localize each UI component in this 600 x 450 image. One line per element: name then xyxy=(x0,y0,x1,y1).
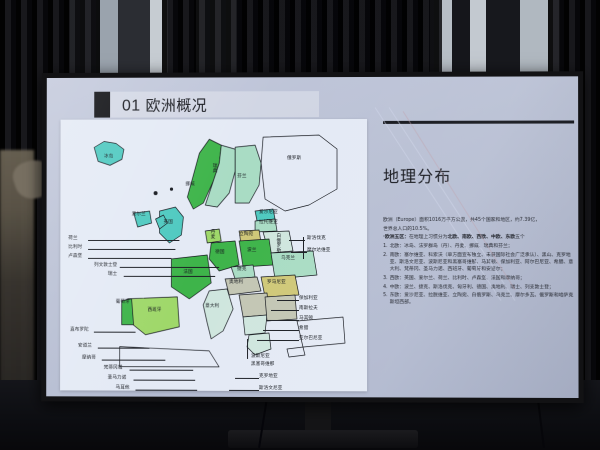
map-callout-bosnia: 波斯尼亚 xyxy=(251,355,270,360)
regions-lead: ·欧洲五区： xyxy=(383,235,409,240)
map-callout-slovakia: 斯洛伐克 xyxy=(307,237,326,242)
map-callout-macedonia: 马其顿 xyxy=(299,317,313,322)
slide-title: 01欧洲概况 xyxy=(122,94,207,115)
screen-stand-base xyxy=(228,430,418,448)
region-item: 4. 中欧：波兰、捷克、斯洛伐克、匈牙利、德国、奥地利、瑞士、列支敦士登； xyxy=(383,284,576,291)
region-item-body: 冰岛、法罗群岛（丹）、丹麦、挪威、瑞典和芬兰； xyxy=(404,244,513,249)
region-item-label: 中欧： xyxy=(390,285,404,290)
region-item-text: 北欧：冰岛、法罗群岛（丹）、丹麦、挪威、瑞典和芬兰； xyxy=(390,243,577,250)
map-callout-herzegovina: 黑塞哥维那 xyxy=(251,363,274,368)
map-label-uk: 英国 xyxy=(164,221,173,226)
map-label-romania: 罗马尼亚 xyxy=(267,281,286,286)
map-label-ukraine: 乌克兰 xyxy=(281,257,295,262)
map-callout-gibraltar: 直布罗陀 xyxy=(70,329,89,334)
region-item-text: 中欧：波兰、捷克、斯洛伐克、匈牙利、德国、奥地利、瑞士、列支敦士登； xyxy=(390,284,577,291)
room-scene: 01欧洲概况 xyxy=(0,0,600,450)
region-item-label: 西欧： xyxy=(390,276,404,281)
map-label-iceland: 冰岛 xyxy=(104,155,113,160)
map-callout-greece: 希腊 xyxy=(299,327,308,332)
region-item: 5. 东欧：爱沙尼亚、拉脱维亚、立陶宛、白俄罗斯、乌克兰、摩尔多瓦、俄罗斯和哈萨… xyxy=(383,292,576,307)
title-accent-block xyxy=(94,92,110,118)
map-label-russia: 俄罗斯 xyxy=(287,157,301,162)
europe-map: 冰岛 挪威 瑞典 芬兰 俄罗斯 爱沙尼亚 拉托维亚 立陶宛 白俄罗斯 丹麦 英国… xyxy=(60,119,367,391)
region-item-label: 北欧： xyxy=(390,244,404,249)
map-label-belarus: 白俄罗斯 xyxy=(275,233,280,252)
map-callout-monaco: 摩纳哥 xyxy=(82,357,96,362)
map-label-estonia: 爱沙尼亚 xyxy=(259,211,278,216)
map-callout-andorra: 安道兰 xyxy=(78,345,92,350)
map-label-portugal: 葡萄牙 xyxy=(116,301,130,306)
map-label-czech: 捷克 xyxy=(237,268,246,273)
map-callout-malta: 马耳他 xyxy=(116,387,130,392)
intro-line-1: 欧洲（Europe）面积1016万平方公里，共45个国家和地区，约7.39亿， xyxy=(383,217,576,224)
map-callout-switzerland: 瑞士 xyxy=(108,273,117,278)
map-label-poland: 波兰 xyxy=(247,249,256,254)
display-screen: 01欧洲概况 xyxy=(41,71,583,403)
map-label-norway: 挪威 xyxy=(185,183,194,188)
region-item-number: 3. xyxy=(383,275,388,282)
region-item-body: 波兰、捷克、斯洛伐克、匈牙利、德国、奥地利、瑞士、列支敦士登； xyxy=(404,285,554,290)
presentation-slide: 01欧洲概况 xyxy=(46,76,578,398)
map-callout-belgium: 比利时 xyxy=(68,246,82,251)
region-item-number: 4. xyxy=(383,284,388,291)
slide-title-text: 欧洲概况 xyxy=(146,97,208,114)
map-callout-croatia: 克罗地亚 xyxy=(259,375,278,380)
map-callout-bulgaria: 保加利亚 xyxy=(299,297,318,302)
region-item-label: 南欧： xyxy=(390,253,404,258)
region-item-number: 1. xyxy=(383,243,388,250)
region-item-number: 5. xyxy=(383,292,388,306)
map-label-spain: 西班牙 xyxy=(148,309,162,314)
region-item-text: 西欧：英国、爱尔兰、荷兰、比利时、卢森堡、法国和摩纳哥； xyxy=(390,275,577,282)
map-label-sweden: 瑞典 xyxy=(211,163,216,173)
map-label-finland: 芬兰 xyxy=(237,175,246,180)
map-label-germany: 德国 xyxy=(215,251,224,256)
map-label-latvia: 拉托维亚 xyxy=(259,221,278,226)
map-callout-netherlands: 荷兰 xyxy=(68,237,77,242)
map-label-austria: 奥地利 xyxy=(229,281,243,286)
region-item-label: 东欧： xyxy=(390,293,404,298)
region-item: 3. 西欧：英国、爱尔兰、荷兰、比利时、卢森堡、法国和摩纳哥； xyxy=(383,275,576,282)
map-callout-albania: 亚尔巴尼亚 xyxy=(299,337,322,342)
region-item-number: 2. xyxy=(383,252,388,274)
map-callout-liechtenstein: 列文敦士登 xyxy=(94,264,117,269)
map-label-ireland: 爱尔兰 xyxy=(132,213,146,218)
regions-tail: 五个 xyxy=(515,235,525,240)
map-callout-yugoslavia: 南斯拉夫 xyxy=(299,307,318,312)
map-label-lithuania: 立陶宛 xyxy=(239,233,253,238)
region-item-text: 南欧：塞尔维亚、科索沃（单方面宣布独立、未获国际社会广泛承认）、黑山、克罗地亚、… xyxy=(390,252,577,274)
map-callout-vatican: 梵蒂冈城 xyxy=(104,367,123,372)
map-callout-moldova: 摩尔达维亚 xyxy=(307,249,330,254)
map-callout-san-marino: 圣马力诺 xyxy=(108,377,127,382)
panel-heading: 地理分布 xyxy=(383,163,451,187)
regions-lead-rest: 在地理上习惯分为 xyxy=(409,235,448,240)
region-item-body: 爱沙尼亚、拉脱维亚、立陶宛、白俄罗斯、乌克兰、摩尔多瓦、俄罗斯和哈萨克斯坦西部。 xyxy=(390,293,574,305)
region-item-text: 东欧：爱沙尼亚、拉脱维亚、立陶宛、白俄罗斯、乌克兰、摩尔多瓦、俄罗斯和哈萨克斯坦… xyxy=(390,292,577,307)
map-label-denmark: 丹麦 xyxy=(209,229,214,239)
map-callout-luxembourg: 卢森堡 xyxy=(68,255,82,260)
slide-title-number: 01 xyxy=(122,98,141,115)
map-label-italy: 意大利 xyxy=(205,305,219,310)
map-callout-slovenia: 斯洛文尼亚 xyxy=(259,387,282,391)
panel-body: 欧洲（Europe）面积1016万平方公里，共45个国家和地区，约7.39亿， … xyxy=(383,217,576,309)
